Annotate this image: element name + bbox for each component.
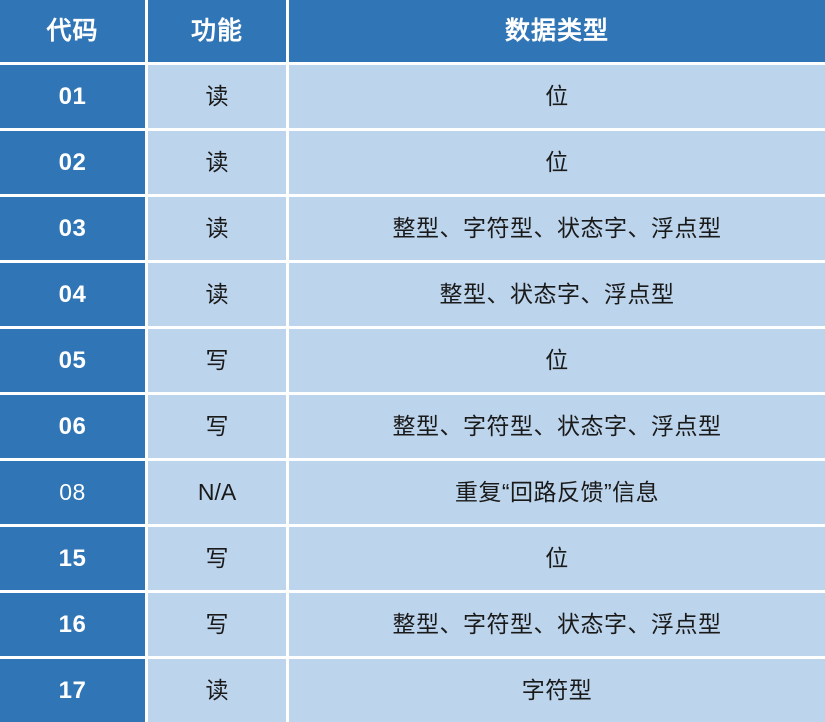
cell-datatype-text: 字符型: [289, 659, 825, 722]
cell-function: 写: [148, 527, 289, 593]
cell-code: 17: [0, 659, 148, 722]
cell-function: 写: [148, 593, 289, 659]
cell-datatype-text: 位: [289, 131, 825, 194]
function-code-table: 代码 功能 数据类型 01 读 位: [0, 0, 825, 722]
table-row: 15 写 位: [0, 527, 825, 593]
cell-function-text: 写: [148, 395, 286, 458]
cell-function: 读: [148, 197, 289, 263]
cell-function: 写: [148, 395, 289, 461]
table-body: 01 读 位 02 读 位: [0, 65, 825, 722]
cell-datatype-text: 整型、字符型、状态字、浮点型: [289, 395, 825, 458]
cell-function-text: 写: [148, 527, 286, 590]
cell-datatype: 位: [289, 329, 825, 395]
cell-code: 15: [0, 527, 148, 593]
cell-function: 读: [148, 65, 289, 131]
cell-code: 04: [0, 263, 148, 329]
cell-datatype: 整型、字符型、状态字、浮点型: [289, 395, 825, 461]
cell-code-text: 05: [0, 329, 145, 392]
cell-code-text: 17: [0, 659, 145, 722]
cell-datatype-text: 整型、字符型、状态字、浮点型: [289, 593, 825, 656]
cell-function-text: 读: [148, 131, 286, 194]
table-row: 03 读 整型、字符型、状态字、浮点型: [0, 197, 825, 263]
cell-code-text: 01: [0, 65, 145, 128]
column-header-code: 代码: [0, 0, 148, 65]
cell-function-text: 读: [148, 263, 286, 326]
cell-datatype: 位: [289, 131, 825, 197]
table-row: 17 读 字符型: [0, 659, 825, 722]
cell-datatype-text: 位: [289, 65, 825, 128]
cell-code: 08: [0, 461, 148, 527]
table-row: 16 写 整型、字符型、状态字、浮点型: [0, 593, 825, 659]
table-row: 05 写 位: [0, 329, 825, 395]
table-header-row: 代码 功能 数据类型: [0, 0, 825, 65]
cell-datatype: 整型、字符型、状态字、浮点型: [289, 593, 825, 659]
cell-datatype-text: 位: [289, 527, 825, 590]
cell-function-text: 写: [148, 329, 286, 392]
cell-function: N/A: [148, 461, 289, 527]
cell-datatype-text: 位: [289, 329, 825, 392]
column-header-function: 功能: [148, 0, 289, 65]
table-row: 06 写 整型、字符型、状态字、浮点型: [0, 395, 825, 461]
cell-datatype: 字符型: [289, 659, 825, 722]
column-header-code-label: 代码: [0, 0, 145, 62]
cell-function-text: 读: [148, 65, 286, 128]
cell-function-text: 读: [148, 197, 286, 260]
column-header-function-label: 功能: [148, 0, 286, 62]
cell-function: 读: [148, 659, 289, 722]
cell-datatype: 位: [289, 527, 825, 593]
cell-code-text: 04: [0, 263, 145, 326]
table-row: 01 读 位: [0, 65, 825, 131]
cell-datatype: 位: [289, 65, 825, 131]
cell-function: 读: [148, 263, 289, 329]
cell-code-text: 03: [0, 197, 145, 260]
cell-code-text: 06: [0, 395, 145, 458]
cell-code-text: 08: [0, 461, 145, 524]
table-row: 02 读 位: [0, 131, 825, 197]
cell-function: 读: [148, 131, 289, 197]
function-code-table-container: 代码 功能 数据类型 01 读 位: [0, 0, 825, 685]
column-header-datatype-label: 数据类型: [289, 0, 825, 62]
cell-datatype: 重复“回路反馈”信息: [289, 461, 825, 527]
cell-code: 16: [0, 593, 148, 659]
cell-function-text: 写: [148, 593, 286, 656]
cell-datatype: 整型、状态字、浮点型: [289, 263, 825, 329]
table-row: 04 读 整型、状态字、浮点型: [0, 263, 825, 329]
cell-code: 02: [0, 131, 148, 197]
cell-code-text: 02: [0, 131, 145, 194]
cell-code-text: 16: [0, 593, 145, 656]
column-header-datatype: 数据类型: [289, 0, 825, 65]
table-header: 代码 功能 数据类型: [0, 0, 825, 65]
cell-datatype: 整型、字符型、状态字、浮点型: [289, 197, 825, 263]
cell-code: 01: [0, 65, 148, 131]
cell-code: 05: [0, 329, 148, 395]
cell-function-text: 读: [148, 659, 286, 722]
cell-code: 06: [0, 395, 148, 461]
cell-function: 写: [148, 329, 289, 395]
cell-datatype-text: 整型、状态字、浮点型: [289, 263, 825, 326]
cell-code-text: 15: [0, 527, 145, 590]
cell-code: 03: [0, 197, 148, 263]
table-row: 08 N/A 重复“回路反馈”信息: [0, 461, 825, 527]
cell-function-text: N/A: [148, 461, 286, 524]
cell-datatype-text: 整型、字符型、状态字、浮点型: [289, 197, 825, 260]
cell-datatype-text: 重复“回路反馈”信息: [289, 461, 825, 524]
